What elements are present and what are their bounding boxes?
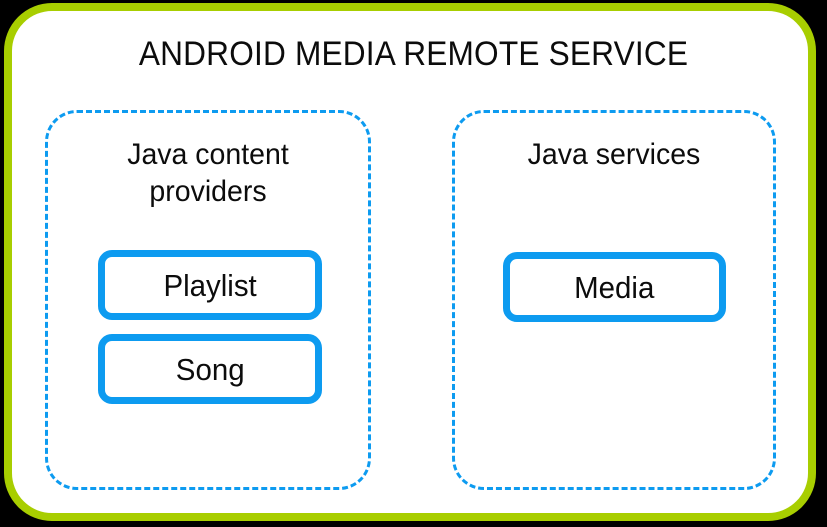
group-title-java-services: Java services <box>463 137 765 174</box>
page-title: ANDROID MEDIA REMOTE SERVICE <box>29 35 798 74</box>
node-song[interactable]: Song <box>98 334 322 404</box>
group-title-java-content-providers: Java content providers <box>56 137 360 210</box>
node-playlist-label: Playlist <box>163 270 256 301</box>
node-media-label: Media <box>574 272 654 303</box>
group-title-line-2: providers <box>56 174 360 211</box>
node-song-label: Song <box>176 354 245 385</box>
diagram-canvas: ANDROID MEDIA REMOTE SERVICE Java conten… <box>0 0 827 527</box>
group-title-line-1: Java content <box>56 137 360 174</box>
node-playlist[interactable]: Playlist <box>98 250 322 320</box>
node-media[interactable]: Media <box>503 252 726 322</box>
group-title-line-1: Java services <box>463 137 765 174</box>
